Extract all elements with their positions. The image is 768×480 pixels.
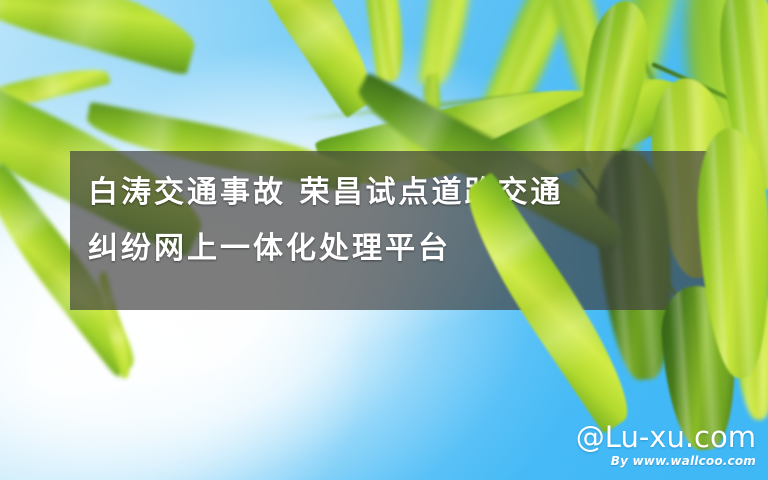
leaf-fg-bottom-left xyxy=(447,172,648,434)
leaves-foreground-layer xyxy=(0,0,768,480)
image-canvas: 白涛交通事故 荣昌试点道路交通 纠纷网上一体化处理平台 @Lu-xu.com B… xyxy=(0,0,768,480)
